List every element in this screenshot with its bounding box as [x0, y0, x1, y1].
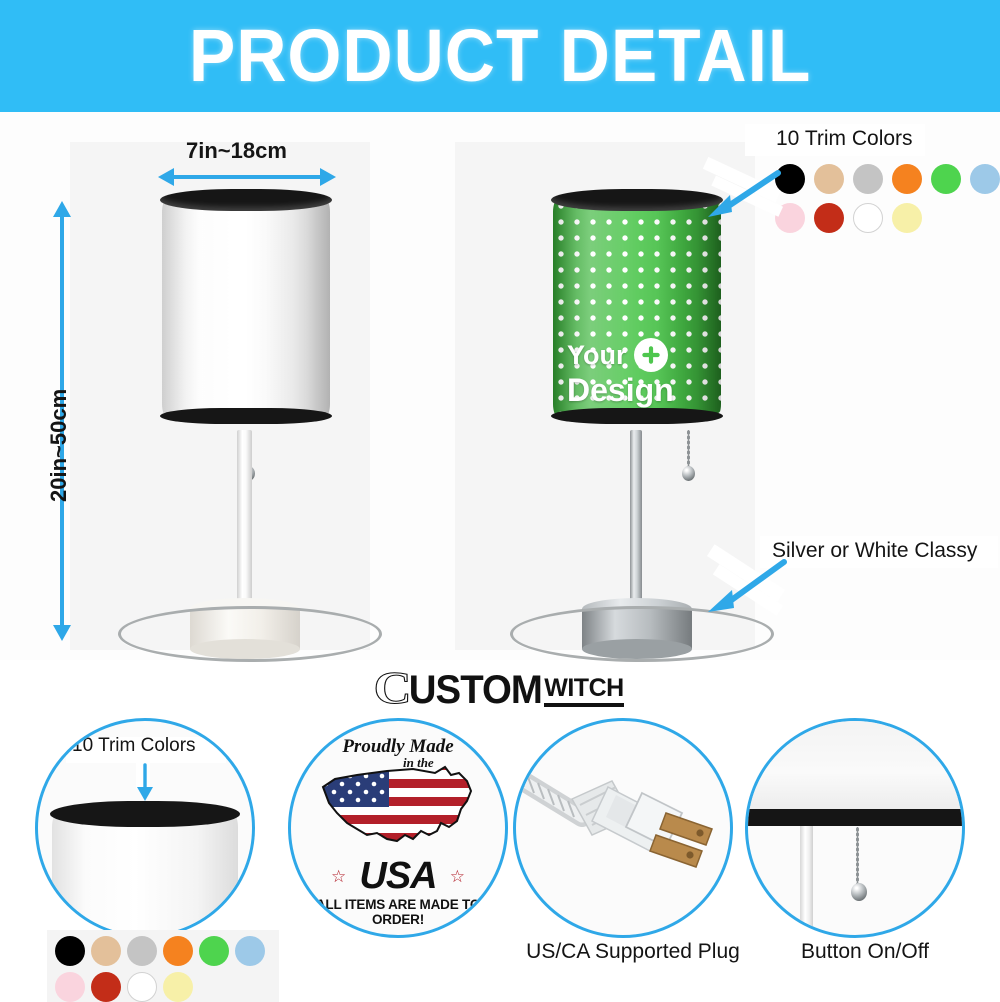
page-title: PRODUCT DETAIL: [189, 19, 811, 93]
product-detail-page: PRODUCT DETAIL 7in~18cm 20in~50cm: [0, 0, 1000, 1000]
main-stage: 7in~18cm 20in~50cm: [0, 112, 1000, 660]
white-lamp-stem: [237, 430, 252, 616]
feature-button-circle: [745, 718, 965, 938]
usa-badge-subtitle: ALL ITEMS ARE MADE TO ORDER!: [291, 897, 505, 927]
trim-swatch-white[interactable]: [853, 203, 883, 233]
trim-swatch-yellow[interactable]: [163, 972, 193, 1002]
trim-swatch-orange[interactable]: [892, 164, 922, 194]
trim-swatch-black[interactable]: [55, 936, 85, 966]
trim-swatch-orange[interactable]: [163, 936, 193, 966]
trim-swatch-tan[interactable]: [91, 936, 121, 966]
green-lamp-shade: Your Design: [553, 198, 721, 418]
header-banner: PRODUCT DETAIL: [0, 0, 1000, 112]
trim-swatch-red[interactable]: [91, 972, 121, 1002]
feature-made-in-usa-circle: Proudly Made in the: [288, 718, 508, 938]
feature-trim-colors-caption: 10 Trim Colors: [72, 735, 196, 757]
feature-trim-colors-arrow: [134, 763, 156, 808]
your-design-overlay: Your Design: [567, 338, 717, 408]
usa-map-flag-icon: [317, 761, 479, 853]
trim-swatch-red[interactable]: [814, 203, 844, 233]
usa-star-right: ☆: [450, 867, 465, 887]
trim-colors-callout-label: 10 Trim Colors: [776, 127, 913, 151]
feature-plug-label: US/CA Supported Plug: [513, 940, 753, 964]
green-lamp-pull-chain[interactable]: [687, 430, 690, 470]
green-lamp-chain-ball[interactable]: [682, 466, 695, 481]
trim-swatch-light-blue[interactable]: [970, 164, 1000, 194]
trim-swatch-pink[interactable]: [55, 972, 85, 1002]
white-lamp-trim-bottom: [160, 408, 332, 424]
feature-button-label: Button On/Off: [745, 940, 985, 964]
green-lamp-cord: [510, 606, 774, 662]
trim-swatch-tan[interactable]: [814, 164, 844, 194]
feature-trim-colors-circle: 10 Trim Colors: [35, 718, 255, 938]
usa-badge: Proudly Made in the: [291, 721, 505, 935]
trim-swatch-light-blue[interactable]: [235, 936, 265, 966]
trim-colors-swatches-top: [775, 164, 1000, 233]
white-lamp-shade: [162, 198, 330, 418]
green-lamp-stem: [630, 430, 642, 616]
height-dimension-label: 20in~50cm: [46, 389, 72, 502]
white-lamp-trim-top: [160, 189, 332, 211]
feature-plug-circle: [513, 718, 733, 938]
logo-witch-text: WITCH: [544, 675, 623, 707]
base-finish-pointer-arrow: [700, 556, 792, 614]
usa-badge-word: USA: [291, 857, 505, 895]
feature-trim-colors-swatches: [55, 936, 277, 1002]
brand-logo: C USTOM WITCH: [0, 663, 1000, 713]
trim-swatch-gray[interactable]: [127, 936, 157, 966]
your-design-line2: Design: [567, 374, 717, 408]
pull-chain-icon: [748, 721, 962, 935]
trim-swatch-gray[interactable]: [853, 164, 883, 194]
white-lamp-cord: [118, 606, 382, 662]
logo-c-mark: C: [374, 666, 412, 710]
logo-custom-text: USTOM: [408, 670, 541, 710]
usa-badge-line1: Proudly Made: [291, 737, 505, 756]
trim-swatch-green[interactable]: [199, 936, 229, 966]
feature-panels: 10 Trim Colors Proudly Made in the: [0, 718, 1000, 1000]
trim-colors-pointer-arrow: [700, 167, 790, 219]
trim-swatch-green[interactable]: [931, 164, 961, 194]
base-finish-label: Silver or White Classy: [772, 539, 977, 563]
lamp-trim-icon: [52, 801, 238, 938]
green-lamp-trim-top: [551, 189, 723, 211]
power-plug-icon: [516, 721, 730, 935]
plus-circle-icon: [634, 338, 668, 372]
green-lamp-trim-bottom: [551, 408, 723, 424]
your-design-line1: Your: [567, 342, 627, 369]
trim-swatch-white[interactable]: [127, 972, 157, 1002]
trim-swatch-yellow[interactable]: [892, 203, 922, 233]
width-dimension-label: 7in~18cm: [186, 138, 287, 164]
